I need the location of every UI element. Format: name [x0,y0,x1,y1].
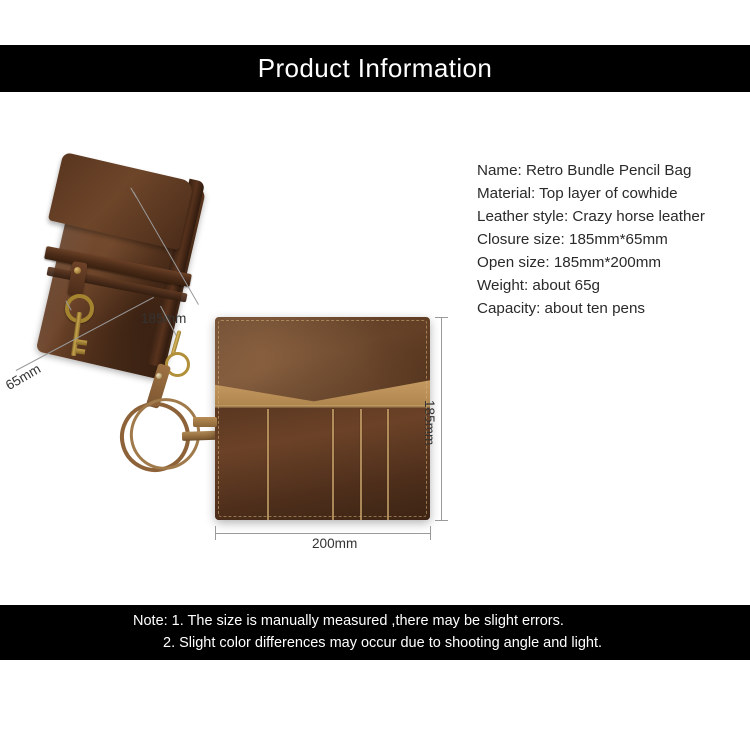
spec-item-capacity: Capacity: about ten pens [477,297,750,320]
dimension-label-open-height: 185mm [422,400,437,445]
pen-slot-divider [332,409,334,520]
footer-bar: Note: 1. The size is manually measured ,… [0,605,750,660]
pen-slot-divider [387,409,389,520]
pen-slot-divider [360,409,362,520]
product-information-page: Product Information 185mm 65mm [0,0,750,750]
spec-item-leather-style: Leather style: Crazy horse leather [477,205,750,228]
footer-note-line-1: Note: 1. The size is manually measured ,… [133,613,564,629]
dimension-line-open-width [215,533,431,534]
spec-item-closure-size: Closure size: 185mm*65mm [477,228,750,251]
spec-item-material: Material: Top layer of cowhide [477,182,750,205]
spec-item-name: Name: Retro Bundle Pencil Bag [477,159,750,182]
pen-slot-divider [267,409,269,520]
spec-item-weight: Weight: about 65g [477,274,750,297]
pocket-fold-line [215,405,430,408]
footer-note-line-2: 2. Slight color differences may occur du… [163,635,602,651]
dimension-cap [215,526,216,540]
open-bag-image [215,317,430,520]
dimension-line-open-height [441,317,442,520]
rivet-icon [156,373,162,379]
dimension-cap [430,526,431,540]
key-tooth-lower [76,348,86,354]
header-bar: Product Information [0,45,750,92]
rivet-icon [74,267,81,274]
pen-pocket-panel [215,407,430,520]
leather-cord-image [112,328,232,473]
side-strap-tab [193,417,217,427]
specification-list: Name: Retro Bundle Pencil Bag Material: … [477,159,750,320]
dimension-cap [435,520,448,521]
page-title: Product Information [258,53,493,84]
spec-item-open-size: Open size: 185mm*200mm [477,251,750,274]
dimension-label-open-width: 200mm [312,536,357,551]
dimension-cap [435,317,448,318]
